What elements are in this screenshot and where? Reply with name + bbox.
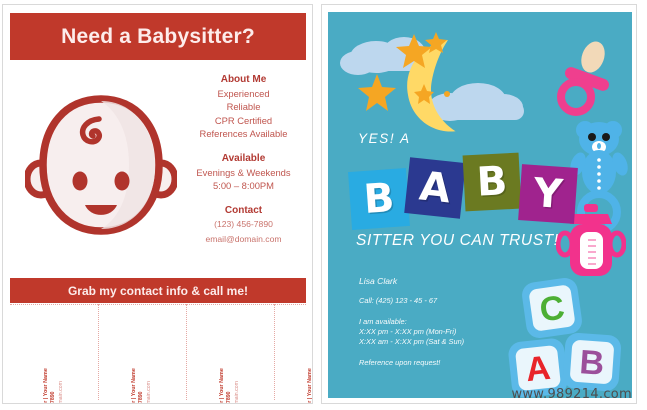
contact-email: email@domain.com — [205, 234, 281, 244]
star-icon — [358, 74, 396, 111]
tear-off-tab[interactable]: Babysitter | Your Name(123) 456-7890emai… — [98, 304, 186, 400]
flyer-comparison-page: Need a Babysitter? Abo — [0, 0, 647, 410]
available-line-hours: 5:00 – 8:00PM — [213, 180, 274, 191]
site-watermark: www.989214.com — [511, 387, 632, 402]
contact-heading: Contact — [178, 204, 309, 218]
about-me-heading: About Me — [178, 73, 309, 87]
about-line-references: References Available — [200, 128, 288, 139]
left-flyer-header-band: Need a Babysitter? — [10, 13, 306, 60]
svg-text:B: B — [578, 343, 605, 383]
tear-off-tab-content: Babysitter | Your Name(123) 456-7890emai… — [217, 339, 243, 404]
about-line-cpr: CPR Certified — [215, 115, 272, 126]
pacifier-icon — [550, 40, 620, 120]
yes-a-headline: YES! A — [358, 131, 411, 146]
left-flyer-title: Need a Babysitter? — [61, 25, 255, 49]
tab-phone-line: (123) 456-7890 — [138, 392, 145, 404]
tear-off-tab[interactable]: Babysitter | Your Name(123) 456-7890emai… — [274, 304, 313, 400]
tab-email-line: email@domain.com — [58, 381, 65, 404]
right-flyer-contact-block: Lisa Clark Call: (425) 123 - 45 - 67 I a… — [359, 276, 464, 368]
tab-name-line: Babysitter | Your Name — [131, 368, 138, 404]
baby-letter-block: B — [348, 168, 410, 230]
baby-letter: B — [362, 175, 396, 223]
tab-name-line: Babysitter | Your Name — [307, 368, 313, 404]
baby-letter: B — [476, 158, 509, 206]
spacer — [178, 141, 309, 152]
tab-email-line: email@domain.com — [146, 381, 153, 404]
baby-letter-blocks: BABY — [350, 152, 580, 232]
tear-off-tab-content: Babysitter | Your Name(123) 456-7890emai… — [305, 339, 313, 404]
left-flyer-info-column: About Me Experienced Reliable CPR Certif… — [178, 73, 309, 247]
baby-face-icon — [25, 89, 177, 241]
available-line-days: Evenings & Weekends — [196, 167, 290, 178]
availability-weekday: X:XX pm - X:XX pm (Mon-Fri) — [359, 327, 464, 337]
baby-letter: Y — [532, 170, 564, 218]
svg-text:C: C — [537, 288, 567, 329]
tab-name-line: Babysitter | Your Name — [219, 368, 226, 404]
contact-phone: (123) 456-7890 — [214, 219, 273, 229]
tear-off-tab-content: Babysitter | Your Name(123) 456-7890emai… — [129, 339, 155, 404]
tab-email-line: email@domain.com — [234, 381, 241, 404]
tab-phone-line: (123) 456-7890 — [50, 392, 57, 404]
baby-letter: A — [417, 164, 453, 213]
availability-heading: I am available: — [359, 317, 464, 327]
tear-off-tab[interactable]: Babysitter | Your Name(123) 456-7890emai… — [10, 304, 98, 400]
spacer — [178, 193, 309, 204]
grab-contact-band: Grab my contact info & call me! — [10, 278, 306, 303]
sitter-name: Lisa Clark — [359, 276, 464, 286]
baby-letter-block: Y — [518, 164, 578, 224]
availability-weekend: X:XX am - X:XX pm (Sat & Sun) — [359, 337, 464, 347]
tear-off-tab-content: Babysitter | Your Name(123) 456-7890emai… — [41, 339, 67, 404]
grab-contact-text: Grab my contact info & call me! — [68, 284, 248, 298]
star-icon — [444, 91, 450, 97]
abc-blocks-icon: C A B — [500, 270, 630, 398]
reference-note: Reference upon request! — [359, 358, 464, 368]
about-line-experienced: Experienced — [217, 88, 269, 99]
available-heading: Available — [178, 152, 309, 166]
left-babysitter-flyer: Need a Babysitter? Abo — [2, 4, 313, 404]
svg-text:A: A — [524, 349, 552, 389]
tab-name-line: Babysitter | Your Name — [43, 368, 50, 404]
baby-letter-block: A — [404, 157, 466, 219]
right-flyer-canvas: C A B YES! A BABY SITTER YOU CAN TRUST! — [328, 12, 632, 398]
sitter-phone: Call: (425) 123 - 45 - 67 — [359, 296, 464, 306]
baby-letter-block: B — [463, 153, 522, 212]
right-babysitter-flyer: C A B YES! A BABY SITTER YOU CAN TRUST! — [321, 4, 637, 404]
tear-off-tabs: Babysitter | Your Name(123) 456-7890emai… — [10, 304, 306, 400]
about-line-reliable: Reliable — [227, 101, 261, 112]
tab-phone-line: (123) 456-7890 — [226, 392, 233, 404]
tear-off-tab[interactable]: Babysitter | Your Name(123) 456-7890emai… — [186, 304, 274, 400]
cloud-icon — [428, 83, 524, 121]
sitter-you-can-trust-headline: SITTER YOU CAN TRUST! — [356, 232, 559, 250]
